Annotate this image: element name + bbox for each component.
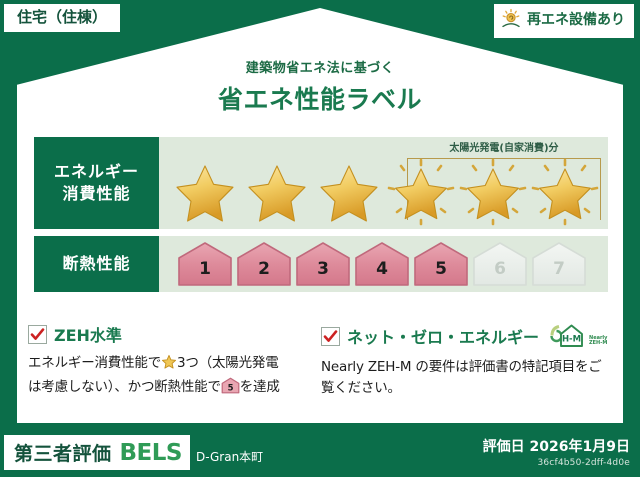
star-1 <box>169 158 241 226</box>
insulation-performance-row: 断熱性能 <box>34 236 608 292</box>
insulation-badge-6-number: 6 <box>472 241 528 287</box>
energy-label-line2: 消費性能 <box>62 183 130 205</box>
bels-jp-label: 第三者評価 <box>14 439 112 466</box>
zeh-m-caption-line2: ZEH-M <box>589 341 607 346</box>
zeh-standard-title: ZEH水準 <box>54 322 122 346</box>
page-title: 省エネ性能ラベル <box>0 80 640 116</box>
insulation-badge-3-number: 3 <box>295 241 351 287</box>
star-2 <box>241 158 313 226</box>
insulation-row-label: 断熱性能 <box>34 236 159 292</box>
net-zero-checkbox[interactable] <box>321 327 340 346</box>
zeh-standard-text-3: は考慮しない）、かつ断熱性能で <box>28 379 221 395</box>
insulation-strip: 1 2 3 <box>159 236 608 292</box>
insulation-badge-5-number: 5 <box>413 241 469 287</box>
evaluation-date-label: 評価日 <box>483 439 525 455</box>
title-subtitle: 建築物省エネ法に基づく <box>0 57 640 76</box>
insulation-badge-2-number: 2 <box>236 241 292 287</box>
zeh-standard-block: ZEH水準 エネルギー消費性能で3つ（太陽光発電 は考慮しない）、かつ断熱性能で… <box>28 322 321 400</box>
bels-en-label: BELS <box>120 440 182 466</box>
category-tag: 住宅（住棟） <box>4 4 120 32</box>
energy-performance-row: エネルギー 消費性能 太陽光発電(自家消費)分 <box>34 137 608 229</box>
svg-text:H-M: H-M <box>562 335 581 345</box>
insulation-badge-4: 4 <box>354 241 410 287</box>
footer-eval-info: 評価日 2026年1月9日 36cf4b50-2dff-4d0e <box>483 436 630 468</box>
evaluation-date: 評価日 2026年1月9日 <box>483 436 630 456</box>
energy-performance-label: 住宅（住棟） 再エネ設備あり 建築物省エネ法に基づく 省エネ性能ラベル <box>0 0 640 477</box>
title-block: 建築物省エネ法に基づく 省エネ性能ラベル <box>0 57 640 116</box>
insulation-badge-1-number: 1 <box>177 241 233 287</box>
building-name: D-Gran本町 <box>196 448 263 470</box>
energy-label-line1: エネルギー <box>54 161 139 183</box>
zeh-m-house-logo: H-M Nearly ZEH-M <box>548 322 607 350</box>
inline-star-icon <box>161 354 177 377</box>
inline-insulation-badge-icon: 5 <box>221 377 240 401</box>
bels-footer: 第三者評価 BELS D-Gran本町 <box>4 435 263 470</box>
energy-performance-row-label: エネルギー 消費性能 <box>34 137 159 229</box>
zeh-standard-text-4: を達成 <box>240 379 280 395</box>
insulation-label-text: 断熱性能 <box>62 253 130 275</box>
insulation-badge-2: 2 <box>236 241 292 287</box>
zeh-standard-text-2: 3つ（太陽光発電 <box>177 355 279 371</box>
net-zero-energy-block: ネット・ゼロ・エネルギー H-M Nearly ZEH-M Nearly ZEH… <box>321 322 614 400</box>
label-id: 36cf4b50-2dff-4d0e <box>483 458 630 468</box>
stars-strip <box>159 158 608 226</box>
insulation-badge-7: 7 <box>531 241 587 287</box>
zeh-standard-text-1: エネルギー消費性能で <box>28 355 161 371</box>
renewable-energy-badge: 再エネ設備あり <box>494 4 634 38</box>
renewable-badge-label: 再エネ設備あり <box>527 13 625 28</box>
zeh-standard-body: エネルギー消費性能で3つ（太陽光発電 は考慮しない）、かつ断熱性能で5を達成 <box>28 353 311 400</box>
zeh-standard-header: ZEH水準 <box>28 322 311 346</box>
star-4-solar <box>385 158 457 226</box>
sun-solar-icon <box>500 8 522 34</box>
star-5-solar <box>457 158 529 226</box>
bels-plate: 第三者評価 BELS <box>4 435 190 470</box>
insulation-badge-5: 5 <box>413 241 469 287</box>
zeh-section: ZEH水準 エネルギー消費性能で3つ（太陽光発電 は考慮しない）、かつ断熱性能で… <box>28 322 614 400</box>
star-3 <box>313 158 385 226</box>
performance-rows: エネルギー 消費性能 太陽光発電(自家消費)分 <box>34 137 608 299</box>
energy-stars-panel: 太陽光発電(自家消費)分 <box>159 137 608 229</box>
zeh-standard-checkbox[interactable] <box>28 325 47 344</box>
insulation-badge-4-number: 4 <box>354 241 410 287</box>
insulation-badge-1: 1 <box>177 241 233 287</box>
svg-text:5: 5 <box>227 383 233 393</box>
insulation-badge-7-number: 7 <box>531 241 587 287</box>
star-6-solar <box>529 158 601 226</box>
solar-bracket-label: 太陽光発電(自家消費)分 <box>397 139 611 154</box>
insulation-badge-6: 6 <box>472 241 528 287</box>
evaluation-date-value: 2026年1月9日 <box>530 439 630 455</box>
net-zero-header: ネット・ゼロ・エネルギー H-M Nearly ZEH-M <box>321 322 604 350</box>
insulation-badge-3: 3 <box>295 241 351 287</box>
insulation-badges-panel: 1 2 3 <box>159 236 608 292</box>
net-zero-title: ネット・ゼロ・エネルギー <box>347 324 539 348</box>
net-zero-body: Nearly ZEH-M の要件は評価書の特記項目をご覧ください。 <box>321 357 604 398</box>
